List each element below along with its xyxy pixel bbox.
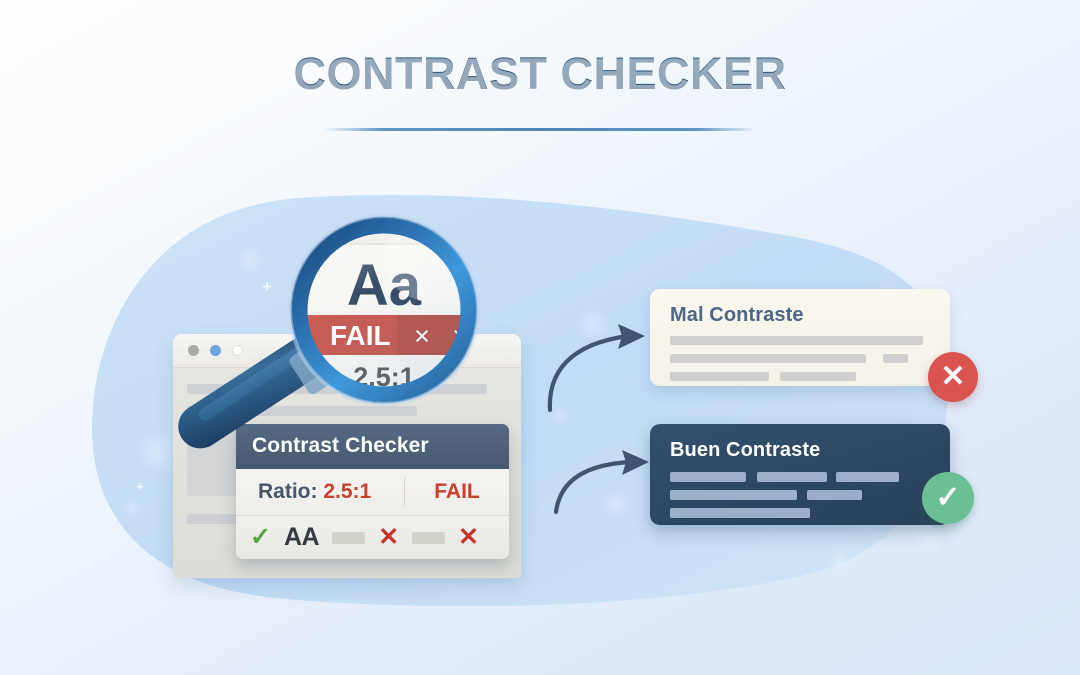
text-bar: [670, 490, 797, 500]
blue-dot-icon[interactable]: [210, 345, 221, 356]
ratio-label: Ratio:: [258, 480, 318, 503]
cross-icon: ✕: [378, 525, 399, 550]
pass-badge-icon: ✓: [922, 472, 974, 524]
arrow-to-bad-card: [550, 336, 628, 410]
panel-ratio-row: Ratio: 2.5:1 FAIL: [236, 469, 509, 516]
sparkle-icon: +: [262, 278, 272, 295]
fail-badge-icon: ✕: [928, 352, 978, 402]
page-title-block: CONTRAST CHECKER: [0, 48, 1080, 131]
placeholder-block: [187, 406, 417, 416]
text-bar: [757, 472, 827, 482]
illustration-canvas: + + CONTRAST CHECKER Contrast Checker Ra…: [0, 0, 1080, 675]
white-dot-icon[interactable]: [232, 345, 243, 356]
text-bar: [883, 354, 908, 363]
card-bad-contrast: Mal Contraste: [650, 289, 950, 386]
check-icon: ✓: [250, 525, 271, 550]
arrowhead: [618, 324, 645, 349]
panel-header-title: Contrast Checker: [236, 424, 509, 469]
sample-text: Aa: [347, 253, 422, 318]
text-bar: [807, 490, 862, 500]
card-good-contrast: Buen Contraste: [650, 424, 950, 525]
status-badge: FAIL: [405, 480, 509, 504]
arrow-to-good-card: [556, 462, 632, 512]
arrowhead: [622, 450, 649, 475]
ratio-value: 2.5:1: [323, 480, 371, 503]
gray-dot-icon[interactable]: [188, 345, 199, 356]
text-bar: [836, 472, 899, 482]
text-bar: [670, 472, 746, 482]
card-title: Buen Contraste: [670, 439, 820, 462]
placeholder-block: [187, 384, 487, 394]
page-title: CONTRAST CHECKER: [0, 48, 1080, 100]
level-placeholder-pill: [332, 532, 365, 544]
ratio-readout: Ratio: 2.5:1: [236, 480, 404, 504]
title-underline: [324, 128, 756, 131]
text-bar: [670, 372, 769, 381]
level-aa-label: AA: [284, 523, 319, 552]
contrast-checker-panel: Contrast Checker Ratio: 2.5:1 FAIL ✓ AA …: [236, 424, 509, 559]
cross-icon: ✕: [458, 525, 479, 550]
card-title: Mal Contraste: [670, 304, 804, 327]
browser-titlebar: [173, 334, 521, 368]
level-placeholder-pill: [412, 532, 445, 544]
panel-levels-row: ✓ AA ✕ ✕: [236, 516, 509, 559]
sparkle-icon: +: [136, 480, 144, 493]
text-bar: [670, 336, 923, 345]
text-bar: [780, 372, 856, 381]
text-bar: [670, 508, 810, 518]
text-bar: [670, 354, 866, 363]
